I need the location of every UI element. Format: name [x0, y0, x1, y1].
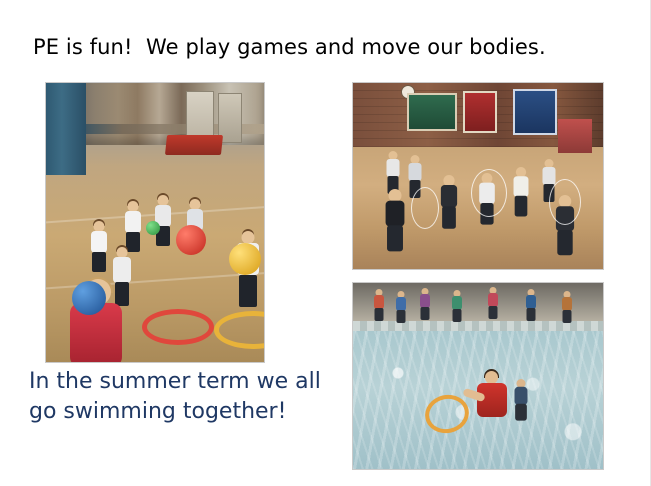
red-cabinet — [558, 119, 592, 153]
hall-child-3-legs — [442, 206, 456, 229]
blue-noticeboard — [513, 89, 557, 135]
ball-yellow — [229, 243, 261, 275]
hall-child-5-torso — [514, 176, 529, 197]
pool-child-1-torso — [374, 295, 384, 309]
pool-child-6-legs — [527, 308, 536, 321]
hall-child-3-torso — [441, 185, 457, 208]
red-gym-mat — [165, 135, 223, 155]
hall-child-1-torso — [387, 159, 400, 177]
hall-child-2-torso — [409, 163, 422, 181]
ball-green — [146, 221, 160, 235]
photo-gym-hoops — [45, 82, 265, 363]
child-2 — [154, 195, 172, 247]
pool-swimmer-1-torso — [515, 387, 528, 405]
green-noticeboard — [407, 93, 457, 131]
swimming-instructor — [471, 371, 511, 433]
hoop-red — [142, 309, 214, 345]
skipping-rope-1 — [471, 169, 507, 217]
ball-blue-left — [72, 281, 106, 315]
slide-caption: In the summer term we all go swimming to… — [29, 367, 349, 427]
photo-hall-ropes — [352, 82, 604, 270]
child-1 — [124, 201, 142, 253]
pool-child-5-legs — [489, 306, 498, 319]
skipping-rope-3 — [411, 187, 439, 229]
pool-child-6-torso — [526, 295, 536, 309]
pool-child-1-legs — [375, 308, 384, 321]
hall-child-6-torso — [543, 167, 556, 185]
hall-curtain — [46, 83, 86, 175]
pool-child-4-torso — [452, 296, 462, 310]
pool-child-5-torso — [488, 293, 498, 307]
hall-child-5-legs — [515, 196, 528, 217]
child-4-legs — [92, 252, 106, 272]
child-4-torso — [91, 231, 107, 253]
child-1-torso — [125, 211, 141, 233]
pool-child-2-legs — [397, 310, 406, 323]
pool-child-7-torso — [562, 297, 572, 311]
hall-child-foreground-legs — [387, 225, 403, 251]
pool-child-3-legs — [421, 307, 430, 320]
photo-swimming — [352, 282, 604, 470]
pool-child-3-torso — [420, 294, 430, 308]
pool-swimmer-1-legs — [515, 404, 527, 421]
slide-title: PE is fun! We play games and move our bo… — [33, 35, 546, 59]
pool-child-2-torso — [396, 297, 406, 311]
red-noticeboard — [463, 91, 497, 133]
child-6-legs — [239, 275, 257, 307]
pool-child-4-legs — [453, 309, 462, 322]
hall-child-right-legs — [557, 230, 572, 255]
skipping-rope-2 — [549, 179, 581, 225]
slide-canvas: PE is fun! We play games and move our bo… — [0, 0, 651, 486]
pool-child-7-legs — [563, 310, 572, 323]
child-4 — [90, 221, 108, 277]
ball-red — [176, 225, 206, 255]
hall-child-foreground-torso — [386, 201, 405, 227]
